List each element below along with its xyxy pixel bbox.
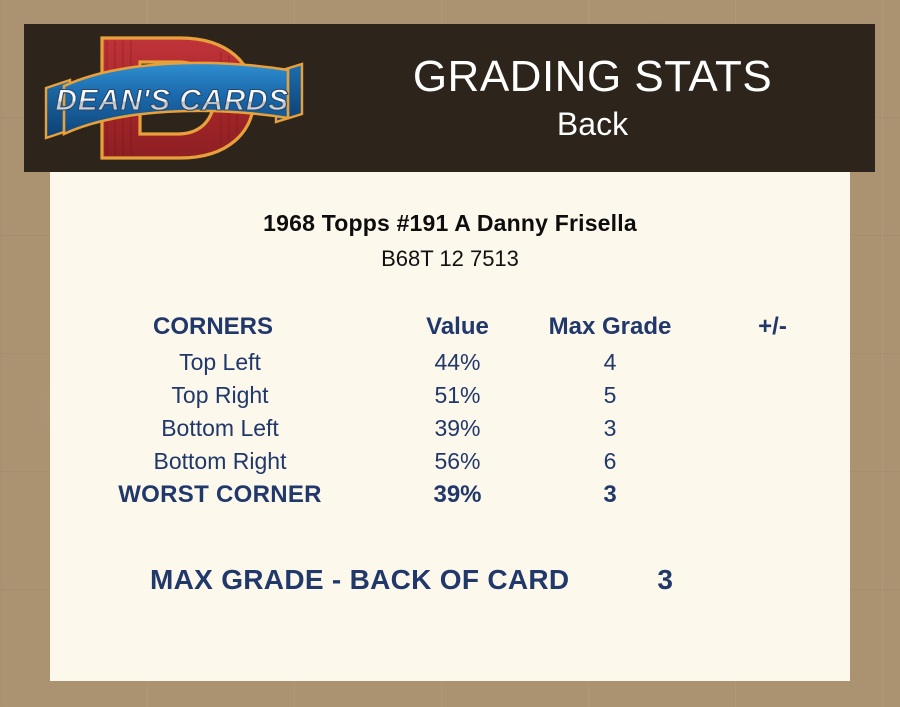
column-header-max-grade: Max Grade <box>525 313 695 346</box>
corner-label: Top Right <box>50 379 390 412</box>
corner-plus-minus <box>695 346 850 379</box>
corner-max-grade: 5 <box>525 379 695 412</box>
column-header-corners: CORNERS <box>50 313 390 346</box>
corner-label: Bottom Left <box>50 412 390 445</box>
max-grade-value: 3 <box>657 564 673 596</box>
corner-plus-minus <box>695 379 850 412</box>
content-panel: 1968 Topps #191 A Danny Frisella B68T 12… <box>50 172 850 681</box>
table-row: Bottom Right 56% 6 <box>50 445 850 478</box>
max-grade-summary: MAX GRADE - BACK OF CARD 3 <box>50 564 850 596</box>
corner-value: 56% <box>390 445 525 478</box>
table-row: Top Left 44% 4 <box>50 346 850 379</box>
worst-corner-label: WORST CORNER <box>50 478 390 512</box>
corner-label: Bottom Right <box>50 445 390 478</box>
corner-max-grade: 3 <box>525 412 695 445</box>
corner-plus-minus <box>695 412 850 445</box>
corner-value: 39% <box>390 412 525 445</box>
page-subtitle: Back <box>557 106 628 143</box>
corner-max-grade: 4 <box>525 346 695 379</box>
table-row-worst-corner: WORST CORNER 39% 3 <box>50 478 850 512</box>
max-grade-label: MAX GRADE - BACK OF CARD <box>150 564 569 596</box>
column-header-plus-minus: +/- <box>695 313 850 346</box>
column-header-value: Value <box>390 313 525 346</box>
header-titles: GRADING STATS Back <box>310 24 875 172</box>
table-row: Bottom Left 39% 3 <box>50 412 850 445</box>
grading-table: CORNERS Value Max Grade +/- Top Left 44%… <box>50 313 850 512</box>
card-title: 1968 Topps #191 A Danny Frisella <box>50 210 850 237</box>
worst-corner-plus-minus <box>695 478 850 512</box>
worst-corner-value: 39% <box>390 478 525 512</box>
page-title: GRADING STATS <box>413 54 772 100</box>
corner-label: Top Left <box>50 346 390 379</box>
corner-max-grade: 6 <box>525 445 695 478</box>
deans-cards-logo[interactable]: DEAN'S CARDS <box>40 26 310 170</box>
header-band: DEAN'S CARDS GRADING STATS Back <box>24 24 875 172</box>
corner-value: 51% <box>390 379 525 412</box>
table-header-row: CORNERS Value Max Grade +/- <box>50 313 850 346</box>
card-code: B68T 12 7513 <box>50 246 850 272</box>
corner-plus-minus <box>695 445 850 478</box>
logo-wordmark: DEAN'S CARDS <box>55 84 288 117</box>
corner-value: 44% <box>390 346 525 379</box>
worst-corner-max-grade: 3 <box>525 478 695 512</box>
table-row: Top Right 51% 5 <box>50 379 850 412</box>
